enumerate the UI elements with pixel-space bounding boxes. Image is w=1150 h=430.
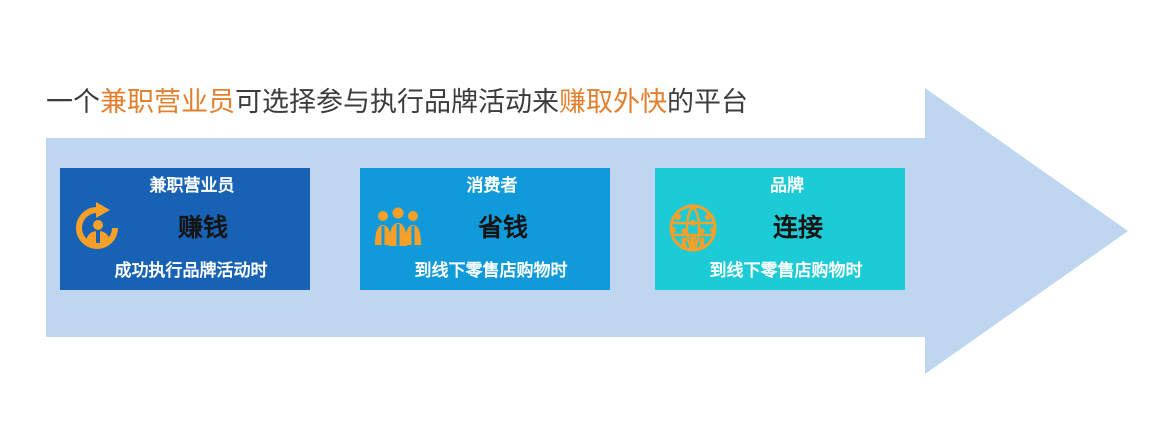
headline-segment-0: 一个 <box>46 87 100 117</box>
card-header-label: 品牌 <box>655 175 905 197</box>
headline-segment-4: 的平台 <box>667 87 748 117</box>
card-header-label: 消费者 <box>360 175 610 197</box>
card-header-label: 兼职营业员 <box>60 175 310 197</box>
headline-segment-2: 可选择参与执行品牌活动来 <box>235 87 559 117</box>
card-footer-label: 到线下零售店购物时 <box>655 260 905 282</box>
card-main-label: 省钱 <box>360 213 610 245</box>
card-main-label: 连接 <box>655 213 905 245</box>
card-footer-label: 成功执行品牌活动时 <box>60 260 310 282</box>
headline-segment-3: 赚取外快 <box>559 87 667 117</box>
card-consumer[interactable]: 消费者 省钱 到线下零售店购物时 <box>360 168 610 290</box>
page-title: 一个兼职营业员可选择参与执行品牌活动来赚取外快的平台 <box>46 85 1046 119</box>
card-footer-label: 到线下零售店购物时 <box>360 260 610 282</box>
slide-canvas: 一个兼职营业员可选择参与执行品牌活动来赚取外快的平台 兼职营业员 赚钱 成功执行… <box>0 0 1150 430</box>
headline-segment-1: 兼职营业员 <box>100 87 235 117</box>
card-brand[interactable]: 品牌 连接 到线下零售店购物时 <box>655 168 905 290</box>
card-part-time-clerk[interactable]: 兼职营业员 赚钱 成功执行品牌活动时 <box>60 168 310 290</box>
card-main-label: 赚钱 <box>60 213 310 245</box>
